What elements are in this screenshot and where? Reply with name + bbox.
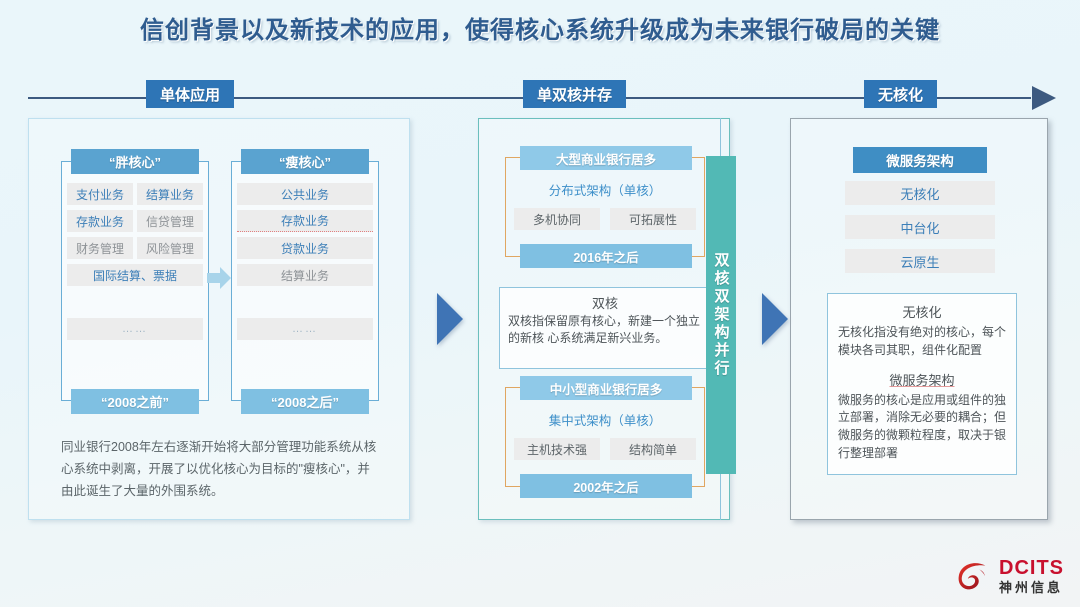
coreless-title-2: 微服务架构 (838, 370, 1006, 389)
core-item[interactable]: 财务管理 (67, 237, 133, 259)
core-row (237, 291, 373, 313)
brand-name-cn: 神州信息 (999, 581, 1064, 594)
block-small-medium-bank: 中小型商业银行居多 集中式架构（单核） 主机技术强 结构简单 2002年之后 (505, 387, 705, 487)
core-row: 结算业务 (237, 264, 373, 286)
microservice-architecture-header: 微服务架构 (853, 147, 987, 173)
core-item[interactable]: 信贷管理 (137, 210, 203, 232)
core-stack-items: 支付业务 结算业务 存款业务 信贷管理 财务管理 风险管理 国际结算、票据 …… (67, 183, 203, 345)
coreless-body-1: 无核化指没有绝对的核心，每个模块各司其职，组件化配置 (838, 324, 1006, 360)
panel-1-caption: 同业银行2008年左右逐渐开始将大部分管理功能系统从核心系统中剥离，开展了以优化… (61, 437, 379, 503)
core-item[interactable]: 风险管理 (137, 237, 203, 259)
core-item[interactable]: 存款业务 (67, 210, 133, 232)
block-tags: 主机技术强 结构简单 (514, 438, 696, 460)
core-row: 存款业务 信贷管理 (67, 210, 203, 232)
core-stack-items: 公共业务 存款业务 贷款业务 结算业务 …… (237, 183, 373, 345)
block-tag[interactable]: 结构简单 (610, 438, 696, 460)
spacer (838, 360, 1006, 368)
page-title: 信创背景以及新技术的应用，使得核心系统升级成为未来银行破局的关键 (0, 10, 1080, 45)
panel-transition-arrow-icon-2 (762, 293, 788, 345)
brand-text: DCITS 神州信息 (999, 558, 1064, 594)
core-item[interactable]: 国际结算、票据 (67, 264, 203, 286)
transition-arrow-icon (207, 267, 231, 289)
core-item-blank (67, 291, 203, 313)
timeline-stage-2[interactable]: 单双核并存 (523, 80, 626, 108)
dual-core-title: 双核 (508, 293, 702, 312)
core-row: …… (67, 318, 203, 340)
coreless-title-1: 无核化 (838, 302, 1006, 321)
block-footer: 2016年之后 (520, 244, 692, 268)
page-header: 信创背景以及新技术的应用，使得核心系统升级成为未来银行破局的关键 (0, 10, 1080, 45)
core-row: 财务管理 风险管理 (67, 237, 203, 259)
arrow-shaft (207, 273, 221, 283)
coreless-item[interactable]: 云原生 (845, 249, 995, 273)
core-row: …… (237, 318, 373, 340)
vertical-bar-dual-core: 双核双架构并行 (706, 156, 736, 474)
vertical-bar-connector-bottom (720, 474, 721, 520)
core-row: 支付业务 结算业务 (67, 183, 203, 205)
timeline-arrowhead-icon (1032, 86, 1056, 110)
timeline: 单体应用 单双核并存 无核化 (28, 86, 1056, 110)
dcits-swoosh-icon (955, 557, 993, 595)
block-tags: 多机协同 可拓展性 (514, 208, 696, 230)
brand-logo: DCITS 神州信息 (955, 557, 1064, 595)
coreless-description-box: 无核化 无核化指没有绝对的核心，每个模块各司其职，组件化配置 微服务架构 微服务… (827, 293, 1017, 475)
dual-core-body: 双核指保留原有核心，新建一个独立的新核 心系统满足新兴业务。 (508, 313, 702, 348)
coreless-item[interactable]: 无核化 (845, 181, 995, 205)
core-row (67, 291, 203, 313)
panel-monolithic-application: “胖核心” 支付业务 结算业务 存款业务 信贷管理 财务管理 风险管理 国际结算… (28, 118, 410, 520)
dual-core-description-box: 双核 双核指保留原有核心，新建一个独立的新核 心系统满足新兴业务。 (499, 287, 711, 369)
vertical-bar-connector-top (720, 118, 721, 158)
block-tag[interactable]: 主机技术强 (514, 438, 600, 460)
core-item[interactable]: 结算业务 (237, 264, 373, 286)
panel-transition-arrow-icon-1 (437, 293, 463, 345)
core-row: 公共业务 (237, 183, 373, 205)
core-item-ellipsis: …… (67, 318, 203, 340)
core-stack-footer: “2008之后” (241, 389, 369, 414)
block-tag[interactable]: 多机协同 (514, 208, 600, 230)
core-stack-header: “瘦核心” (241, 149, 369, 174)
arrow-head (220, 267, 231, 289)
block-subtitle: 集中式架构（单核） (506, 410, 704, 429)
core-item-blank (237, 291, 373, 313)
block-subtitle: 分布式架构（单核） (506, 180, 704, 199)
block-header: 中小型商业银行居多 (520, 376, 692, 400)
core-stack-header: “胖核心” (71, 149, 199, 174)
core-row: 国际结算、票据 (67, 264, 203, 286)
panel-dual-core-coexistence: 大型商业银行居多 分布式架构（单核） 多机协同 可拓展性 2016年之后 双核 … (478, 118, 730, 520)
core-item[interactable]: 贷款业务 (237, 237, 373, 259)
block-large-bank: 大型商业银行居多 分布式架构（单核） 多机协同 可拓展性 2016年之后 (505, 157, 705, 257)
core-item[interactable]: 公共业务 (237, 183, 373, 205)
brand-name-en: DCITS (999, 558, 1064, 578)
timeline-stage-1[interactable]: 单体应用 (146, 80, 234, 108)
panel-coreless: 微服务架构 无核化 中台化 云原生 无核化 无核化指没有绝对的核心，每个模块各司… (790, 118, 1048, 520)
block-header: 大型商业银行居多 (520, 146, 692, 170)
core-row: 贷款业务 (237, 237, 373, 259)
core-stack-footer: “2008之前” (71, 389, 199, 414)
block-footer: 2002年之后 (520, 474, 692, 498)
coreless-body-2: 微服务的核心是应用或组件的独立部署，消除无必要的耦合；但微服务的微颗粒程度，取决… (838, 392, 1006, 463)
timeline-stage-3[interactable]: 无核化 (864, 80, 937, 108)
core-item[interactable]: 支付业务 (67, 183, 133, 205)
block-tag[interactable]: 可拓展性 (610, 208, 696, 230)
coreless-item[interactable]: 中台化 (845, 215, 995, 239)
core-item[interactable]: 存款业务 (237, 210, 373, 232)
core-item[interactable]: 结算业务 (137, 183, 203, 205)
core-row: 存款业务 (237, 210, 373, 232)
core-item-ellipsis: …… (237, 318, 373, 340)
